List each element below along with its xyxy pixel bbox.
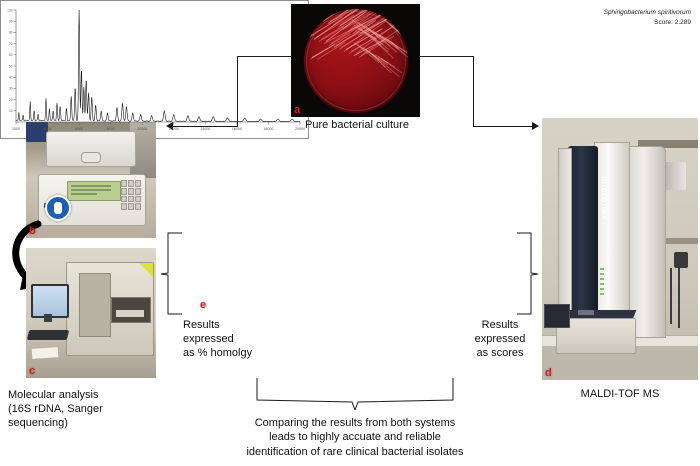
spectrum-score: Score: 2.289 [604,18,691,28]
panel-letter-e: e [200,300,206,311]
connector-top-right-horizontal [419,56,474,57]
yellow-corner-marker [139,263,153,277]
sequencer-door [79,273,111,337]
paper-sheet [32,347,59,359]
caption-molecular-line2: (16S rDNA, Sanger [8,402,184,416]
cycler-keypad [121,180,141,210]
conclusion-line1: Comparing the results from both systems [200,416,510,430]
power-outlet [674,252,688,268]
caption-molecular-line3: sequencing) [8,416,184,430]
conclusion-text: Comparing the results from both systems … [200,416,510,459]
spectrum-annotation: Sphingobacterium spiritivorum Score: 2.2… [604,8,691,28]
conclusion-line3: identification of rare clinical bacteria… [200,445,510,459]
svg-text:70: 70 [9,42,13,46]
caption-pure-bacterial-culture: Pure bacterial culture [289,118,425,132]
cycler-display [67,181,121,201]
target-plate [578,310,594,315]
dna-sequencer-photo: c [26,248,156,378]
status-leds [600,268,612,314]
bracket-left-results [160,232,186,316]
caption-molecular-line1: Molecular analysis [8,388,184,402]
computer-monitor [31,284,69,318]
caption-molecular-analysis: Molecular analysis (16S rDNA, Sanger seq… [8,388,184,430]
instrument-dark-column [568,146,598,324]
svg-text:20: 20 [9,98,13,102]
panel-letter-c: c [29,366,35,377]
svg-text:6000: 6000 [75,127,83,131]
mass-spectrum-panel: 2000400060008000100001200014000160001800… [0,0,309,139]
results-left-line3: as % homolgy [183,346,287,360]
svg-text:20000: 20000 [295,127,305,131]
caption-maldi-tof-ms: MALDI-TOF MS [540,387,700,401]
results-right-line2: expressed [463,332,537,346]
connector-right-vertical [473,56,474,126]
svg-text:40: 40 [9,76,13,80]
keyboard [27,330,69,340]
bacterial-streaks [304,9,408,113]
svg-text:30: 30 [9,87,13,91]
sequencer-body [66,262,154,356]
results-right-line1: Results [463,318,537,332]
svg-text:12000: 12000 [169,127,179,131]
mass-spectrum-plot: 2000400060008000100001200014000160001800… [0,0,307,137]
svg-text:14000: 14000 [200,127,210,131]
connector-to-panel-d-horizontal [473,126,533,127]
spectrum-axes: 2000400060008000100001200014000160001800… [7,8,305,131]
results-left-text: Results expressed as % homolgy [183,318,287,360]
svg-text:10: 10 [9,109,13,113]
cable-2 [670,268,672,324]
blood-agar-plate [304,9,408,113]
results-right-text: Results expressed as scores [463,318,537,360]
results-left-line2: expressed [183,332,287,346]
petri-dish-photo: a [291,4,420,117]
instrument-left-edge [558,148,572,326]
panel-letter-a: a [294,105,300,116]
instrument-brand-label: microflex [600,176,610,221]
bracket-right-results [514,232,540,316]
svg-text:90: 90 [9,20,13,24]
svg-text:80: 80 [9,31,13,35]
conclusion-line2: leads to highly accuate and reliable [200,430,510,444]
svg-text:18000: 18000 [263,127,273,131]
electronics-module [544,304,570,328]
svg-text:50: 50 [9,64,13,68]
svg-text:10000: 10000 [137,127,147,131]
bottom-brace [255,376,455,410]
arrowhead-to-panel-d [532,122,539,130]
svg-text:60: 60 [9,53,13,57]
monitor-stand [44,314,52,322]
sequencer-window [111,297,151,323]
panel-letter-d: d [545,368,552,379]
panel-letter-b: b [29,226,36,237]
results-left-line1: Results [183,318,287,332]
spectrum-species-name: Sphingobacterium spiritivorum [604,8,691,18]
svg-text:2000: 2000 [12,127,20,131]
svg-text:100: 100 [7,8,13,12]
results-right-line3: as scores [463,346,537,360]
spectrum-trace [16,10,300,121]
svg-text:4000: 4000 [44,127,52,131]
beaker [664,162,686,190]
svg-text:16000: 16000 [232,127,242,131]
svg-text:8000: 8000 [107,127,115,131]
maldi-tof-photo: microflex d [542,118,698,380]
cable-1 [678,268,680,328]
